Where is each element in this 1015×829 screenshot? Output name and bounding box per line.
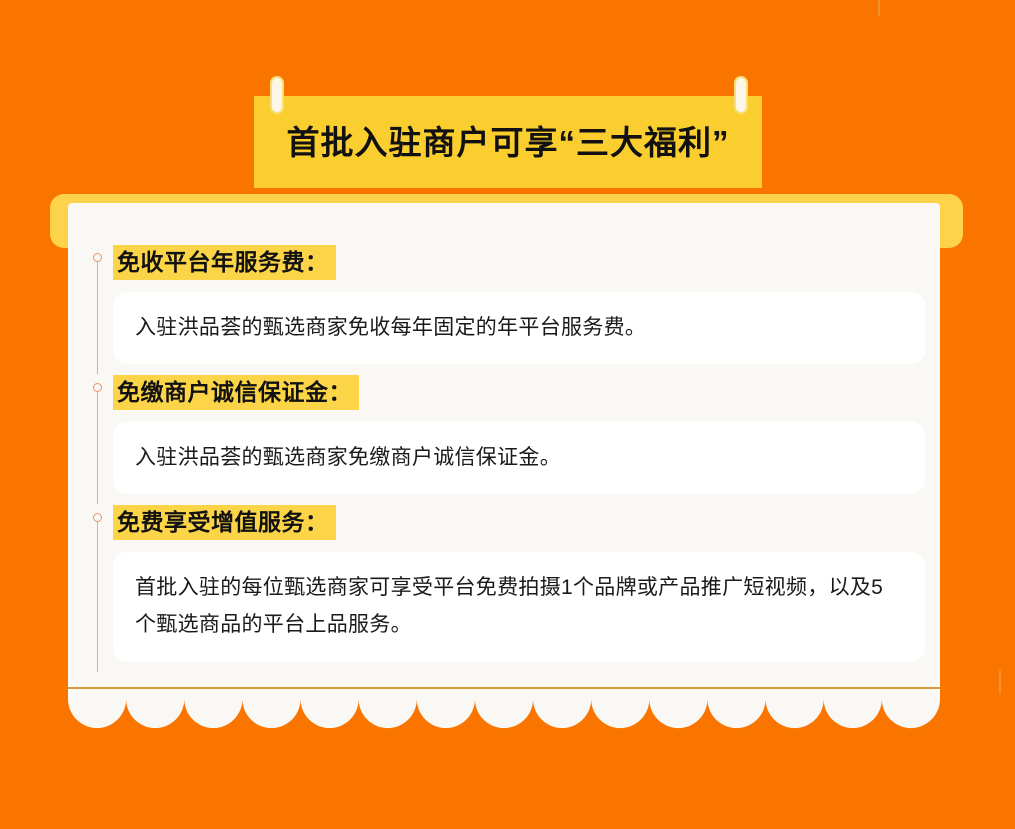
bullet-circle-icon: [93, 513, 102, 522]
banner-pin-left-icon: [270, 76, 284, 114]
benefit-body-box-3: 首批入驻的每位甄选商家可享受平台免费拍摄1个品牌或产品推广短视频，以及5个甄选商…: [113, 552, 925, 662]
benefit-rail-1: [93, 253, 103, 375]
benefit-heading-2: 免缴商户诚信保证金：: [113, 375, 359, 410]
benefit-rail-2: [93, 383, 103, 505]
decorative-tick-bottom-right: [999, 670, 1001, 694]
benefit-heading-label: 免收平台年服务费：: [113, 245, 336, 280]
banner-pin-right-icon: [734, 76, 748, 114]
benefit-body-box-1: 入驻洪品荟的甄选商家免收每年固定的年平台服务费。: [113, 292, 925, 364]
rail-line: [97, 262, 98, 374]
benefit-heading-label: 免缴商户诚信保证金：: [113, 375, 359, 410]
benefit-item-3: 免费享受增值服务： 首批入驻的每位甄选商家可享受平台免费拍摄1个品牌或产品推广短…: [68, 505, 940, 673]
benefit-heading-3: 免费享受增值服务：: [113, 505, 336, 540]
benefit-body-text: 入驻洪品荟的甄选商家免收每年固定的年平台服务费。: [135, 310, 646, 347]
benefit-item-2: 免缴商户诚信保证金： 入驻洪品荟的甄选商家免缴商户诚信保证金。: [68, 375, 940, 505]
benefit-rail-3: [93, 513, 103, 673]
decorative-tick-top-right: [878, 0, 880, 16]
card-bottom-divider: [68, 687, 940, 689]
benefit-body-text: 入驻洪品荟的甄选商家免缴商户诚信保证金。: [135, 440, 561, 477]
rail-line: [97, 522, 98, 672]
header-banner: 首批入驻商户可享“三大福利”: [254, 76, 762, 188]
benefit-item-1: 免收平台年服务费： 入驻洪品荟的甄选商家免收每年固定的年平台服务费。: [68, 245, 940, 375]
scalloped-bottom-edge: [68, 689, 940, 733]
benefit-body-text: 首批入驻的每位甄选商家可享受平台免费拍摄1个品牌或产品推广短视频，以及5个甄选商…: [135, 570, 903, 644]
benefit-body-box-2: 入驻洪品荟的甄选商家免缴商户诚信保证金。: [113, 422, 925, 494]
benefit-heading-1: 免收平台年服务费：: [113, 245, 336, 280]
page-title: 首批入驻商户可享“三大福利”: [287, 126, 730, 159]
bullet-circle-icon: [93, 383, 102, 392]
bullet-circle-icon: [93, 253, 102, 262]
banner-plate: 首批入驻商户可享“三大福利”: [254, 96, 762, 188]
rail-line: [97, 392, 98, 504]
promo-poster: 首批入驻商户可享“三大福利” 免收平台年服务费： 入驻洪品荟的甄选商家免收每年固…: [0, 0, 1015, 829]
benefit-heading-label: 免费享受增值服务：: [113, 505, 336, 540]
benefits-list: 免收平台年服务费： 入驻洪品荟的甄选商家免收每年固定的年平台服务费。 免缴商户诚…: [68, 203, 940, 687]
